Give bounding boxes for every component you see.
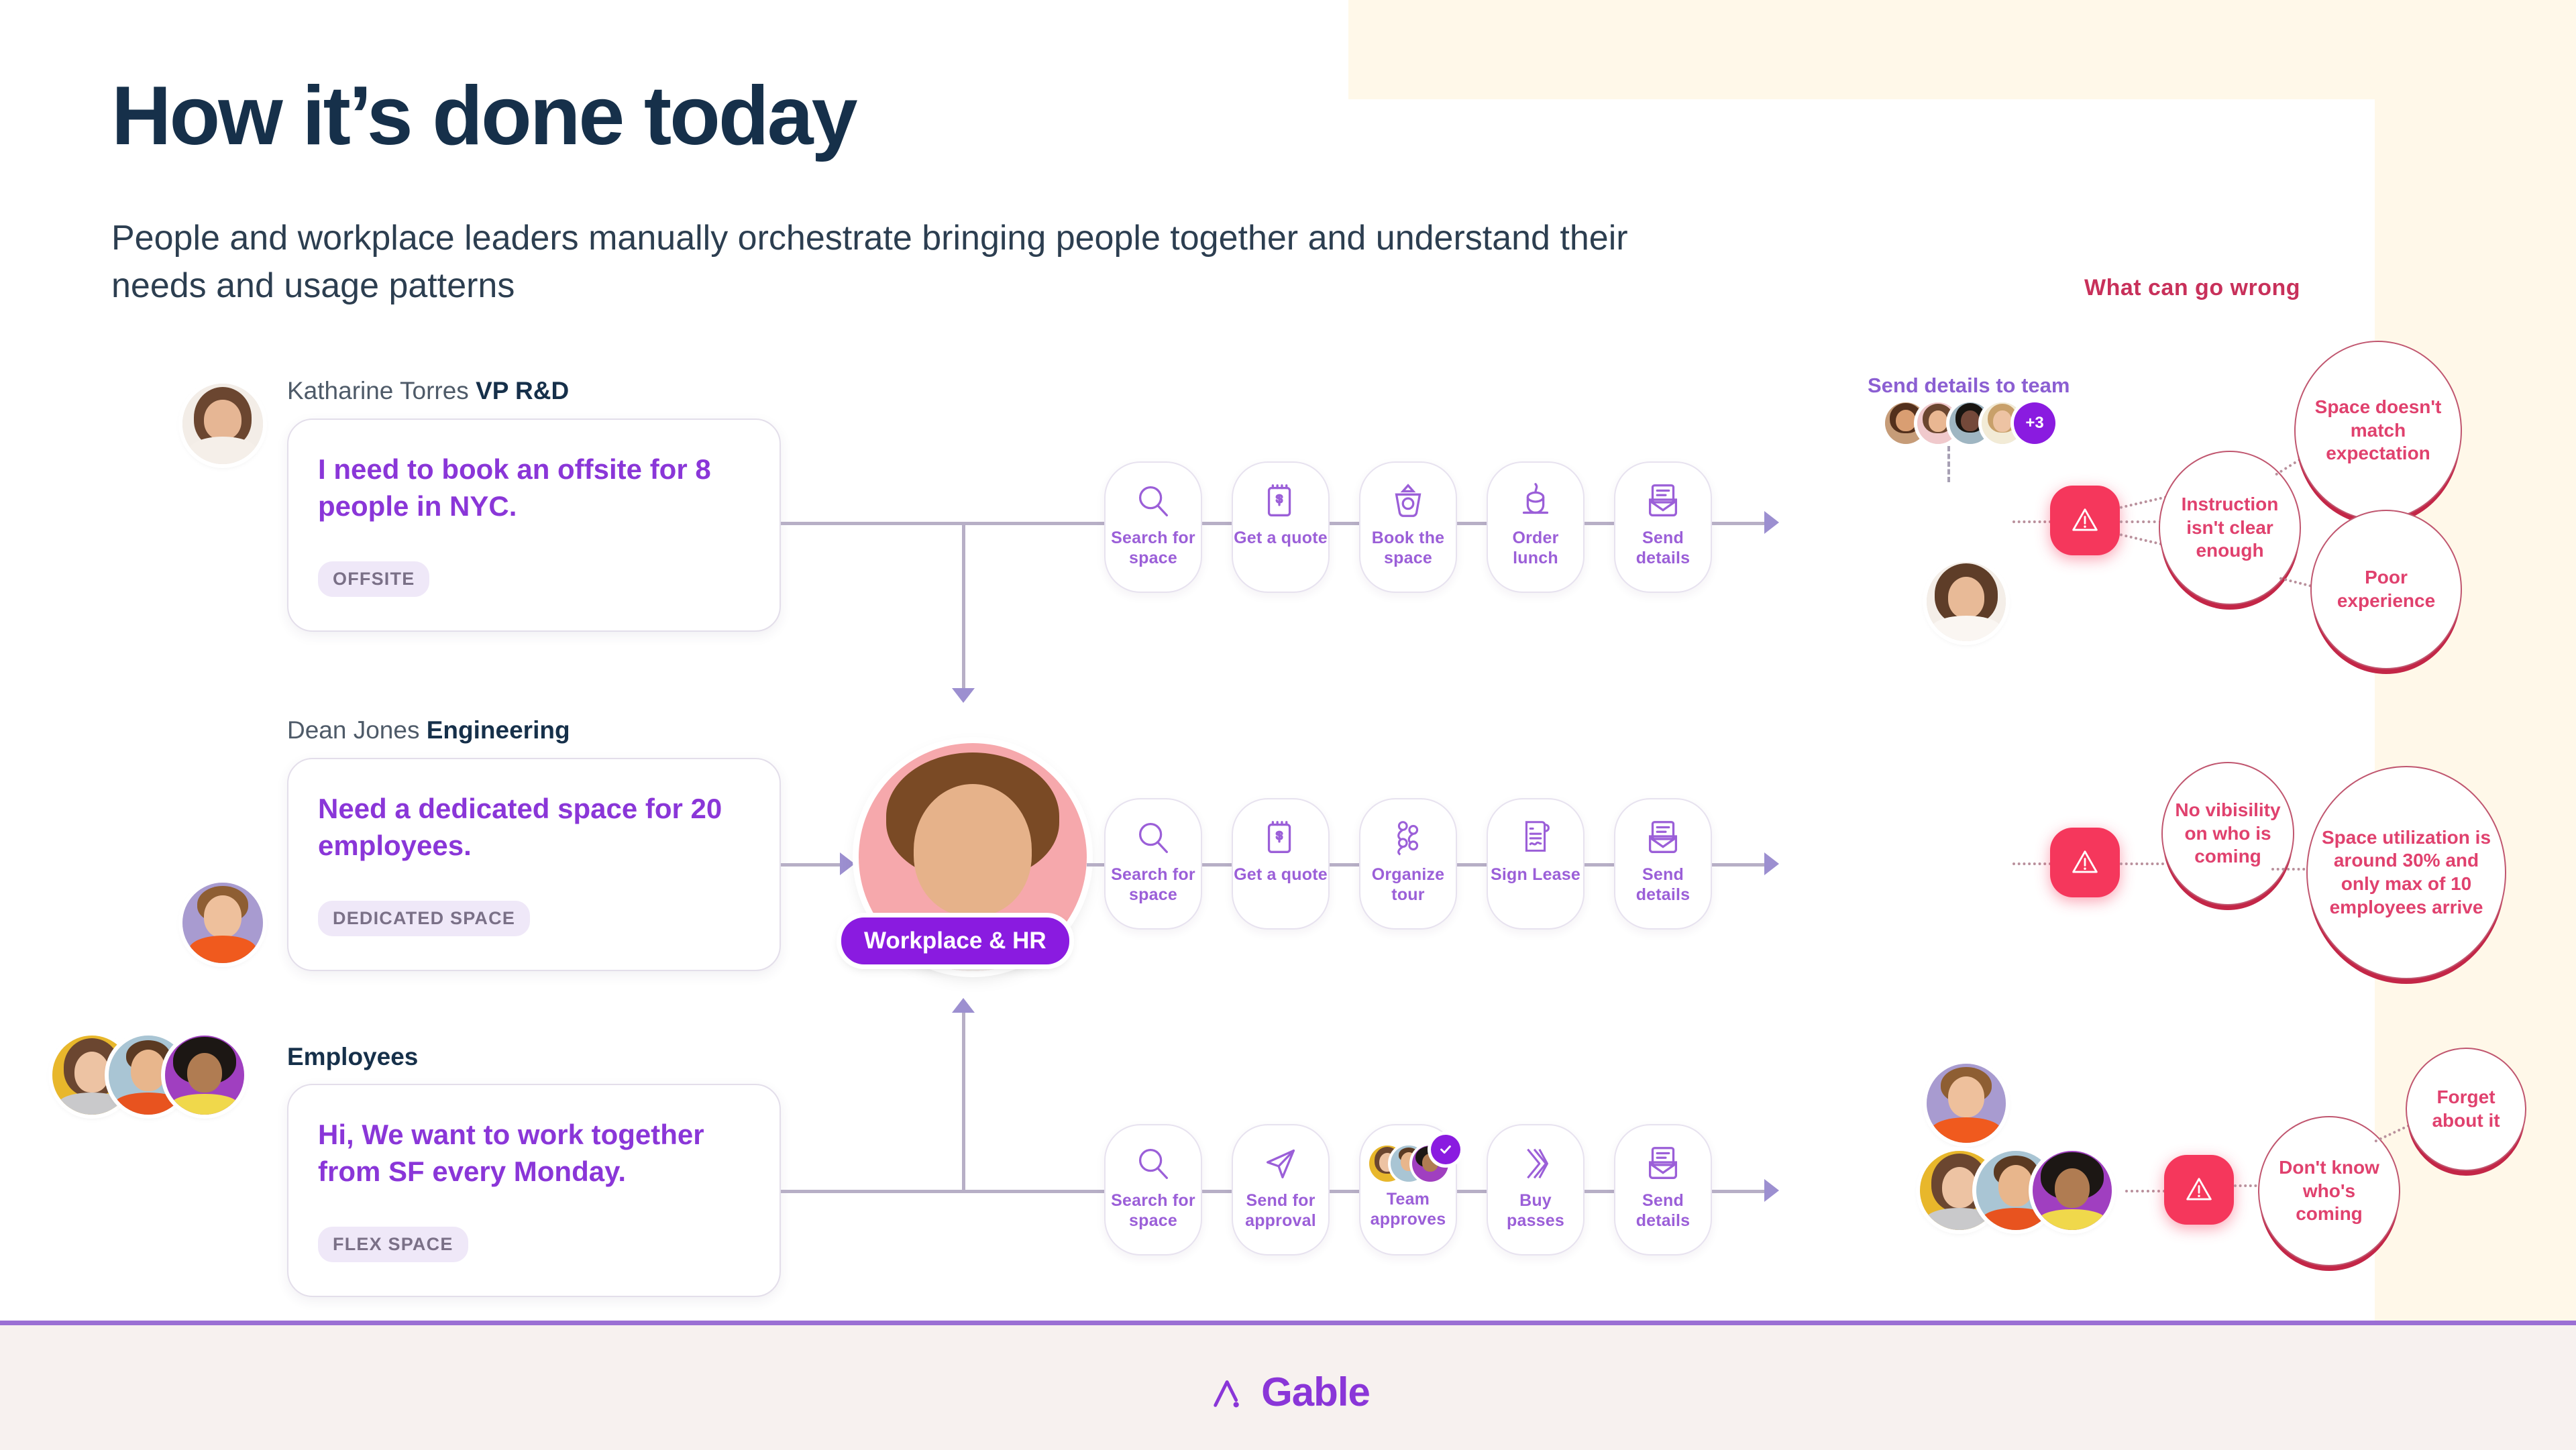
connector-row-2-s1-s2: [1330, 863, 1359, 867]
person-role-row-3: Employees: [287, 1043, 418, 1070]
step-label-row-1-0: Search for space: [1106, 528, 1200, 568]
send-mail-icon: [1642, 1143, 1684, 1184]
arrow-right-row-2: [1764, 852, 1779, 875]
tour-icon: [1387, 817, 1429, 858]
result-avatar-row-1: [1927, 562, 2006, 641]
person-name-row-1: Katharine Torres VP R&D: [287, 377, 569, 405]
arrow-right-row-3: [1764, 1179, 1779, 1202]
request-tag-row-2: DEDICATED SPACE: [318, 901, 530, 936]
request-text-row-3: Hi, We want to work together from SF eve…: [318, 1116, 755, 1190]
connector-row-1-s2-s3: [1457, 522, 1487, 525]
dotline-row-2-a: [2012, 862, 2051, 865]
step-row-2-1[interactable]: Get a quote: [1232, 798, 1330, 930]
avatar-dean: [182, 883, 263, 963]
request-text-row-2: Need a dedicated space for 20 employees.: [318, 790, 755, 865]
problem-text-row-1-0: Instruction isn't clear enough: [2160, 493, 2300, 563]
request-text-row-1: I need to book an offsite for 8 people i…: [318, 451, 755, 525]
step-row-3-2[interactable]: Team approves: [1359, 1124, 1457, 1256]
connector-row-3-out: [781, 1190, 1104, 1193]
problem-text-row-2-1: Space utilization is around 30% and only…: [2308, 826, 2505, 919]
connector-row-3-s3-s4: [1585, 1190, 1614, 1193]
step-row-1-1[interactable]: Get a quote: [1232, 461, 1330, 593]
step-row-2-2[interactable]: Organize tour: [1359, 798, 1457, 930]
warning-badge-row-2: [2050, 828, 2120, 897]
step-label-row-2-1: Get a quote: [1234, 865, 1328, 885]
step-row-1-3[interactable]: Order lunch: [1487, 461, 1585, 593]
hub-label: Workplace & HR: [841, 917, 1069, 964]
problem-bubble-row-3-1: Forget about it: [2406, 1048, 2526, 1171]
booking-icon: [1387, 480, 1429, 522]
gable-mark-icon: [1206, 1372, 1248, 1413]
warning-triangle-icon: [2068, 503, 2102, 538]
person-first-name-row-1: Katharine Torres: [287, 377, 476, 404]
page-title: How it’s done today: [111, 74, 856, 158]
step-row-3-1[interactable]: Send for approval: [1232, 1124, 1330, 1256]
result-avatar-row-2: [1927, 1064, 2006, 1143]
team-avatars-icon: [1365, 1143, 1451, 1187]
slide-root: How it’s done today People and workplace…: [0, 0, 2576, 1450]
step-label-row-2-4: Send details: [1616, 865, 1710, 905]
step-row-1-2[interactable]: Book the space: [1359, 461, 1457, 593]
arrow-right-row-1: [1764, 511, 1779, 534]
problem-bubble-row-1-1: Space doesn't match expectation: [2294, 341, 2462, 520]
connector-row-2-s4-out: [1712, 863, 1764, 867]
connector-team-to-person-row-1: [1947, 446, 1950, 482]
connector-row-1-s3-s4: [1585, 522, 1614, 525]
step-label-row-3-0: Search for space: [1106, 1191, 1200, 1231]
person-name-row-2: Dean Jones Engineering: [287, 716, 570, 744]
step-row-3-0[interactable]: Search for space: [1104, 1124, 1202, 1256]
problem-text-row-1-1: Space doesn't match expectation: [2296, 396, 2461, 465]
what-can-go-wrong-heading: What can go wrong: [2084, 275, 2300, 301]
connector-row-3-s4-out: [1712, 1190, 1764, 1193]
search-icon: [1132, 480, 1174, 522]
step-label-row-2-3: Sign Lease: [1489, 865, 1582, 885]
step-label-row-3-2: Team approves: [1361, 1190, 1455, 1229]
step-label-row-2-2: Organize tour: [1361, 865, 1455, 905]
connector-branch-up-to-hub: [962, 1013, 965, 1190]
connector-row-2-out: [781, 863, 840, 867]
problem-text-row-1-2: Poor experience: [2312, 566, 2461, 612]
connector-row-1-s4-out: [1712, 522, 1764, 525]
connector-row-1-s0-s1: [1202, 522, 1232, 525]
connector-row-1-s1-s2: [1330, 522, 1359, 525]
page-subtitle: People and workplace leaders manually or…: [111, 215, 1668, 309]
person-first-name-row-2: Dean Jones: [287, 716, 427, 744]
problem-bubble-row-1-2: Poor experience: [2310, 510, 2462, 669]
request-card-row-3[interactable]: Hi, We want to work together from SF eve…: [287, 1084, 781, 1297]
step-label-row-1-4: Send details: [1616, 528, 1710, 568]
send-details-to-team-label: Send details to team: [1868, 374, 2070, 398]
connector-row-2-s0-s1: [1202, 863, 1232, 867]
lunch-icon: [1515, 480, 1556, 522]
connector-row-3-s2-s3: [1457, 1190, 1487, 1193]
connector-hub-to-steps: [1087, 863, 1104, 867]
request-card-row-1[interactable]: I need to book an offsite for 8 people i…: [287, 419, 781, 632]
avatar-overflow-badge: +3: [2014, 402, 2055, 444]
problem-text-row-2-0: No vibisility on who is coming: [2163, 799, 2293, 869]
approved-check-badge: [1431, 1135, 1460, 1164]
paper-plane-icon: [1260, 1143, 1301, 1184]
step-label-row-1-2: Book the space: [1361, 528, 1455, 568]
arrow-down-to-hub: [952, 688, 975, 703]
avatar-katharine: [182, 384, 263, 464]
step-row-2-0[interactable]: Search for space: [1104, 798, 1202, 930]
problem-bubble-row-2-1: Space utilization is around 30% and only…: [2306, 766, 2506, 979]
arrow-right-into-hub: [840, 852, 855, 875]
lease-document-icon: [1515, 817, 1556, 858]
step-row-1-4[interactable]: Send details: [1614, 461, 1712, 593]
connector-row-2-s2-s3: [1457, 863, 1487, 867]
step-label-row-3-1: Send for approval: [1234, 1191, 1328, 1231]
connector-row-3-s1-s2: [1330, 1190, 1359, 1193]
warning-triangle-icon: [2182, 1172, 2216, 1207]
connector-row-1-out: [781, 522, 1104, 525]
brand-logo: Gable: [1206, 1369, 1370, 1415]
footer-divider: [0, 1321, 2576, 1325]
step-label-row-2-0: Search for space: [1106, 865, 1200, 905]
dotline-row-1-b: [2120, 520, 2161, 523]
send-mail-icon: [1642, 480, 1684, 522]
problem-text-row-3-1: Forget about it: [2407, 1086, 2525, 1132]
step-row-2-4[interactable]: Send details: [1614, 798, 1712, 930]
step-row-2-3[interactable]: Sign Lease: [1487, 798, 1585, 930]
warning-triangle-icon: [2068, 845, 2102, 880]
quote-document-icon: [1260, 480, 1301, 522]
step-label-row-3-4: Send details: [1616, 1191, 1710, 1231]
step-row-3-3[interactable]: Buy passes: [1487, 1124, 1585, 1256]
arrow-up-to-hub: [952, 998, 975, 1013]
check-icon: [1438, 1142, 1453, 1157]
warning-badge-row-3: [2164, 1155, 2234, 1225]
step-row-3-4[interactable]: Send details: [1614, 1124, 1712, 1256]
step-label-row-1-3: Order lunch: [1489, 528, 1582, 568]
request-card-row-2[interactable]: Need a dedicated space for 20 employees.…: [287, 758, 781, 971]
warning-badge-row-1: [2050, 486, 2120, 555]
step-label-row-3-3: Buy passes: [1489, 1191, 1582, 1231]
passes-icon: [1515, 1143, 1556, 1184]
dotline-row-1-a: [2012, 520, 2051, 523]
problem-bubble-row-1-0: Instruction isn't clear enough: [2159, 451, 2301, 605]
step-row-1-0[interactable]: Search for space: [1104, 461, 1202, 593]
dotline-row-2-c: [2271, 868, 2310, 871]
connector-branch-to-hub: [962, 522, 965, 688]
dotline-row-2-b: [2120, 862, 2164, 865]
quote-document-icon: [1260, 817, 1301, 858]
person-role-row-1: VP R&D: [476, 377, 569, 404]
search-icon: [1132, 817, 1174, 858]
person-name-row-3: Employees: [287, 1043, 418, 1071]
send-mail-icon: [1642, 817, 1684, 858]
person-role-row-2: Engineering: [427, 716, 570, 744]
step-label-row-1-1: Get a quote: [1234, 528, 1328, 549]
request-tag-row-1: OFFSITE: [318, 561, 429, 597]
search-icon: [1132, 1143, 1174, 1184]
dotline-row-3-a: [2125, 1190, 2165, 1192]
brand-name: Gable: [1261, 1369, 1370, 1415]
request-tag-row-3: FLEX SPACE: [318, 1227, 468, 1262]
connector-row-2-s3-s4: [1585, 863, 1614, 867]
connector-row-3-s0-s1: [1202, 1190, 1232, 1193]
problem-text-row-3-0: Don't know who's coming: [2259, 1156, 2399, 1226]
problem-bubble-row-2-0: No vibisility on who is coming: [2161, 762, 2294, 905]
